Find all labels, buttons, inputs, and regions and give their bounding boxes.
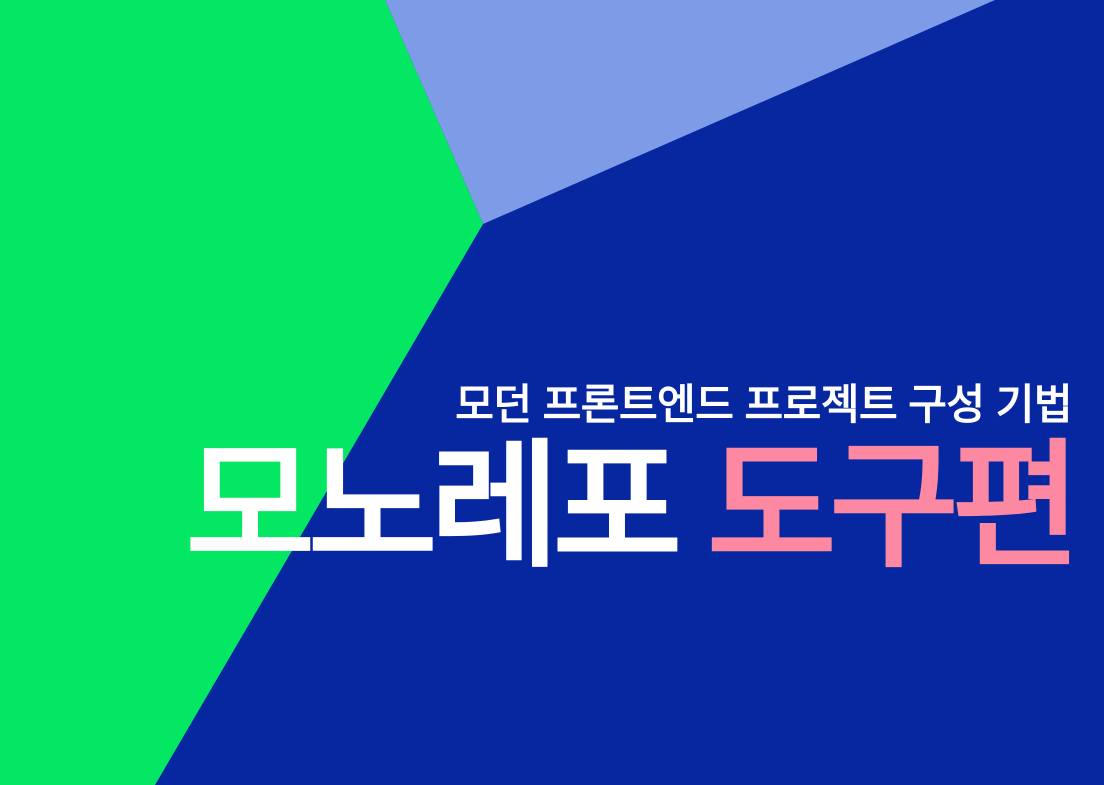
background-geometry xyxy=(0,0,1104,785)
cover-canvas: 모던 프론트엔드 프로젝트 구성 기법 모노레포 도구편 xyxy=(0,0,1104,785)
